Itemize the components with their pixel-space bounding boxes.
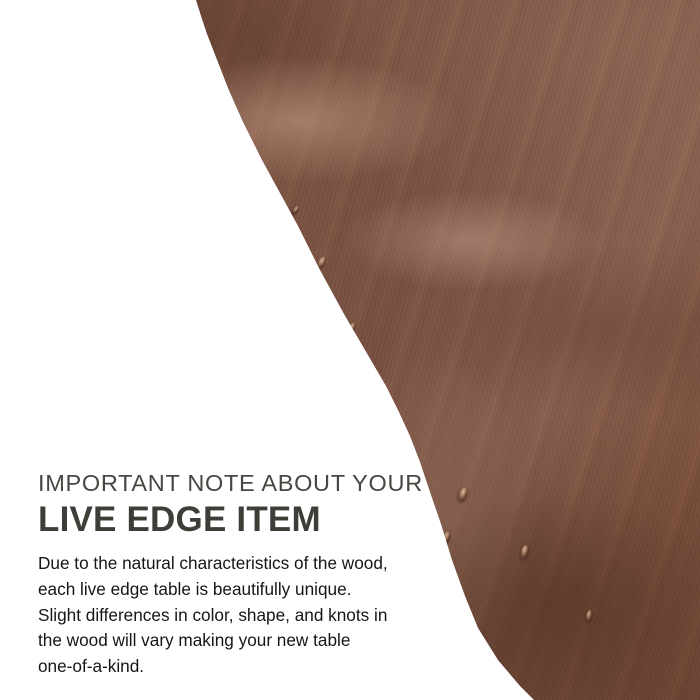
body-copy-line: each live edge table is beautifully uniq… — [38, 577, 398, 603]
body-copy-line: Slight differences in color, shape, and … — [38, 603, 398, 629]
body-copy-line: one-of-a-kind. — [38, 654, 398, 680]
text-block: IMPORTANT NOTE ABOUT YOUR LIVE EDGE ITEM… — [38, 470, 398, 680]
eyebrow-heading: IMPORTANT NOTE ABOUT YOUR — [38, 470, 398, 496]
body-copy-line: the wood will vary making your new table — [38, 628, 398, 654]
page-title: LIVE EDGE ITEM — [38, 502, 398, 539]
promo-image-canvas: IMPORTANT NOTE ABOUT YOUR LIVE EDGE ITEM… — [0, 0, 700, 700]
body-copy: Due to the natural characteristics of th… — [38, 551, 398, 680]
body-copy-line: Due to the natural characteristics of th… — [38, 551, 398, 577]
